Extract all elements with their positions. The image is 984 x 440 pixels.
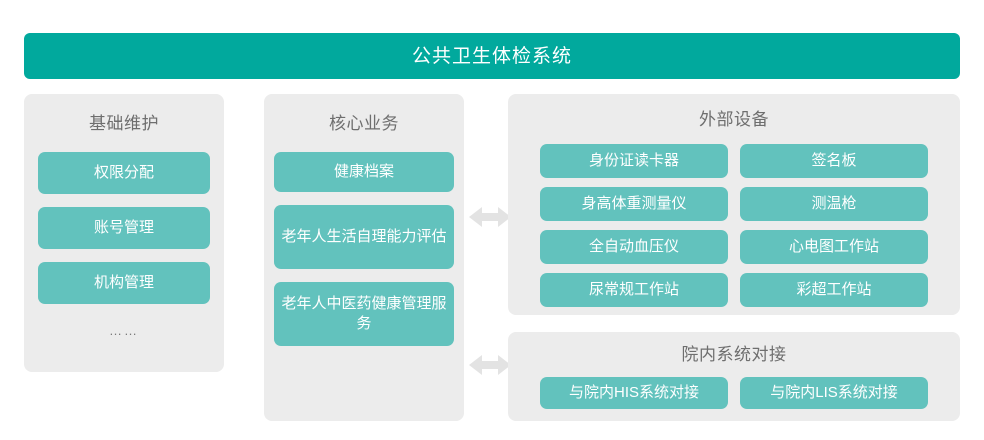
panel-basic-maintenance: 基础维护 权限分配 账号管理 机构管理 …… [24,94,224,372]
hospital-item-lis-integration[interactable]: 与院内LIS系统对接 [740,377,928,409]
panel-external-devices: 外部设备 身份证读卡器 签名板 身高体重测量仪 测温枪 全自动血压仪 心电图工作… [508,94,960,315]
device-item-signature-pad[interactable]: 签名板 [740,144,928,178]
page-title: 公共卫生体检系统 [412,47,572,66]
panel-devices-title: 外部设备 [508,111,960,128]
diagram-canvas: 公共卫生体检系统 基础维护 权限分配 账号管理 机构管理 …… 核心业务 健康档… [0,0,984,440]
device-item-color-ultrasound-workstation[interactable]: 彩超工作站 [740,273,928,307]
panel-hospital-item-grid: 与院内HIS系统对接 与院内LIS系统对接 [540,377,928,409]
panel-core-business: 核心业务 健康档案 老年人生活自理能力评估 老年人中医药健康管理服务 [264,94,464,421]
hospital-item-his-integration[interactable]: 与院内HIS系统对接 [540,377,728,409]
system-title-banner: 公共卫生体检系统 [24,33,960,79]
device-item-ecg-workstation[interactable]: 心电图工作站 [740,230,928,264]
basic-more-indicator: …… [24,324,224,337]
panel-hospital-system-integration: 院内系统对接 与院内HIS系统对接 与院内LIS系统对接 [508,332,960,421]
panel-core-item-list: 健康档案 老年人生活自理能力评估 老年人中医药健康管理服务 [274,152,454,346]
device-item-urine-routine-workstation[interactable]: 尿常规工作站 [540,273,728,307]
core-item-elderly-self-care-assessment[interactable]: 老年人生活自理能力评估 [274,205,454,269]
double-arrow-horizontal-icon [469,352,511,378]
connector-core-to-devices [469,204,511,230]
device-item-thermometer-gun[interactable]: 测温枪 [740,187,928,221]
basic-item-permission-allocation[interactable]: 权限分配 [38,152,210,194]
basic-item-organization-management[interactable]: 机构管理 [38,262,210,304]
core-item-elderly-tcm-health-service[interactable]: 老年人中医药健康管理服务 [274,282,454,346]
device-item-height-weight-meter[interactable]: 身高体重测量仪 [540,187,728,221]
device-item-auto-blood-pressure-monitor[interactable]: 全自动血压仪 [540,230,728,264]
basic-item-account-management[interactable]: 账号管理 [38,207,210,249]
panel-core-title: 核心业务 [264,115,464,132]
device-item-id-card-reader[interactable]: 身份证读卡器 [540,144,728,178]
connector-core-to-hospital [469,352,511,378]
core-item-health-record[interactable]: 健康档案 [274,152,454,192]
double-arrow-horizontal-icon [469,204,511,230]
panel-basic-item-list: 权限分配 账号管理 机构管理 [38,152,210,304]
panel-hospital-title: 院内系统对接 [508,346,960,363]
panel-devices-item-grid: 身份证读卡器 签名板 身高体重测量仪 测温枪 全自动血压仪 心电图工作站 尿常规… [540,144,928,307]
panel-basic-title: 基础维护 [24,115,224,132]
